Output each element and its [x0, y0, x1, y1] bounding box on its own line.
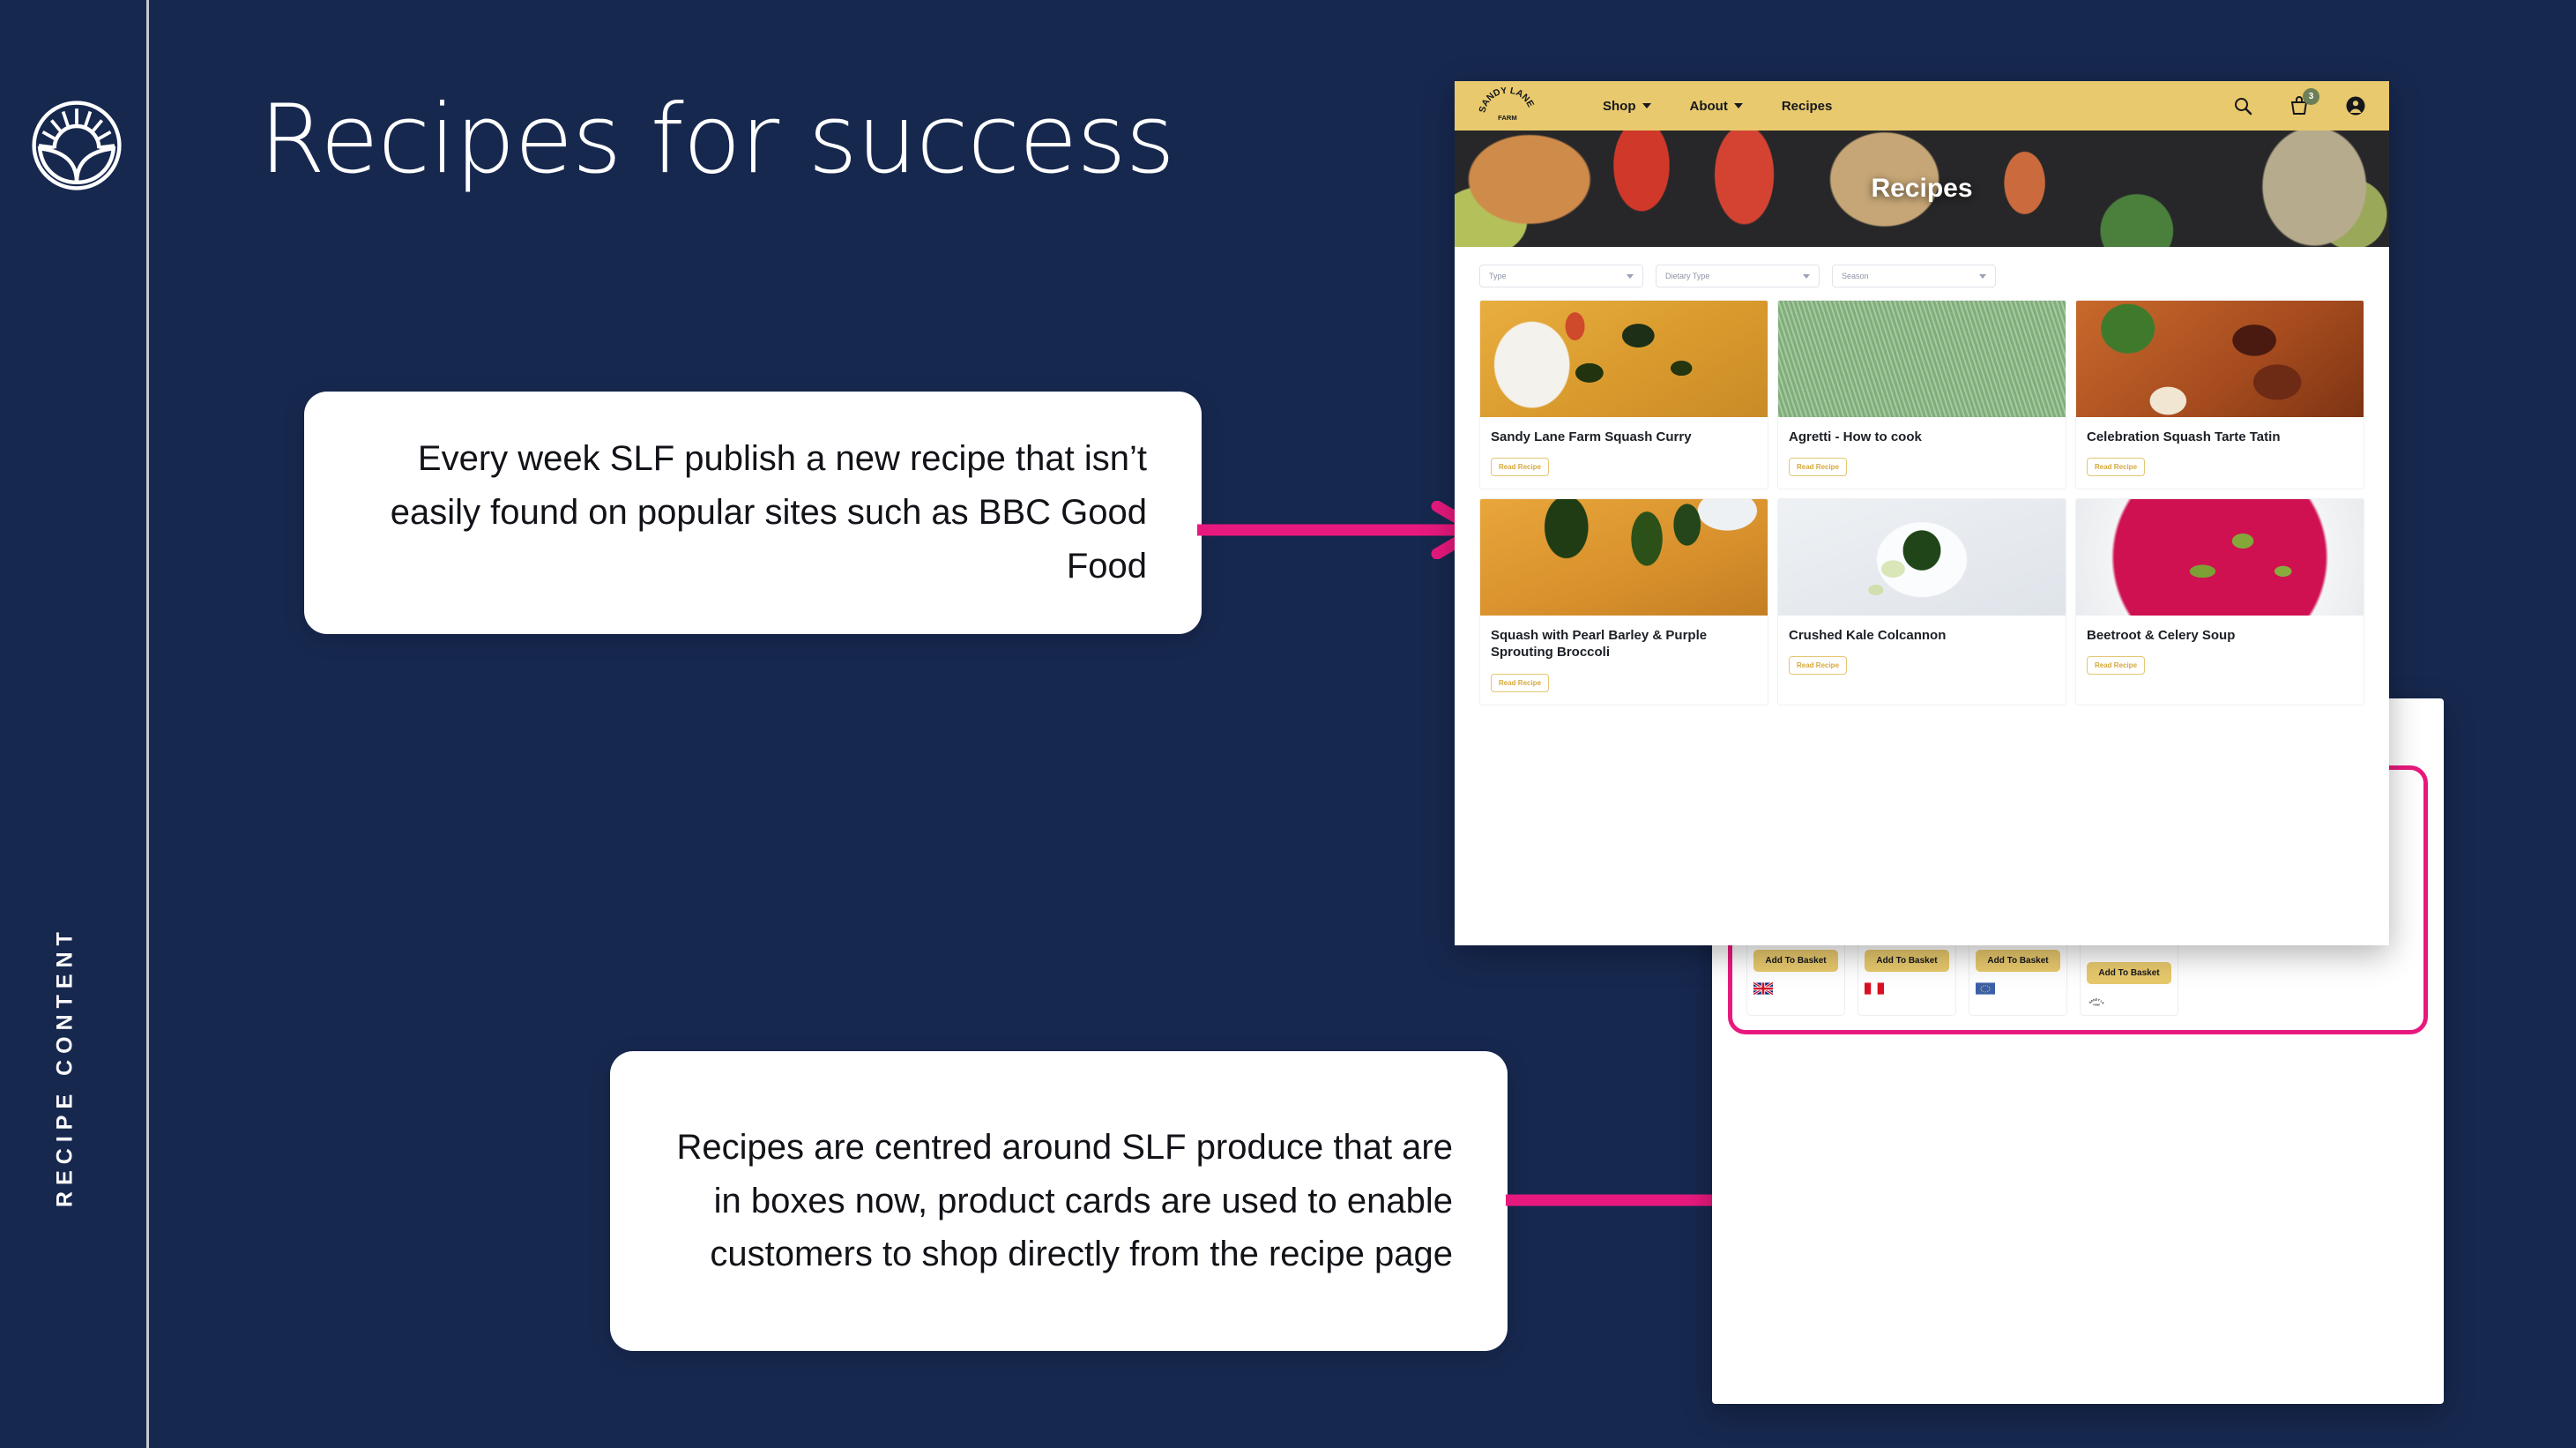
page-title: Recipes for success: [259, 93, 1174, 188]
eu-flag-icon: [1976, 982, 1995, 995]
section-label: RECIPE CONTENT: [53, 926, 78, 1208]
recipe-title: Squash with Pearl Barley & Purple Sprout…: [1491, 627, 1757, 661]
read-recipe-button[interactable]: Read Recipe: [1789, 656, 1847, 675]
origin-row: [1976, 982, 2060, 995]
nav-item-about[interactable]: About: [1690, 99, 1743, 114]
recipe-image: [2076, 499, 2364, 616]
sunrise-leaf-logo-icon: [28, 97, 125, 194]
recipe-card[interactable]: Sandy Lane Farm Squash Curry Read Recipe: [1479, 300, 1768, 489]
nav-label: Recipes: [1782, 99, 1833, 114]
origin-row: [1753, 982, 1838, 995]
cart-count-badge: 3: [2303, 88, 2319, 105]
filter-season-select[interactable]: Season: [1832, 265, 1996, 287]
chevron-down-icon: [1642, 103, 1651, 108]
callout-box-product-cards: Recipes are centred around SLF produce t…: [610, 1051, 1508, 1351]
add-to-basket-button[interactable]: Add To Basket: [1753, 950, 1838, 972]
nav-actions: 3: [2232, 95, 2366, 116]
callout-text: Every week SLF publish a new recipe that…: [359, 432, 1147, 593]
read-recipe-button[interactable]: Read Recipe: [2087, 656, 2145, 675]
sandy-lane-farm-logo-icon[interactable]: SANDY LANE FARM: [1478, 87, 1537, 124]
recipe-title: Agretti - How to cook: [1789, 429, 2055, 445]
filter-label: Dietary Type: [1665, 272, 1803, 280]
nav-item-recipes[interactable]: Recipes: [1782, 99, 1833, 114]
recipe-card[interactable]: Agretti - How to cook Read Recipe: [1777, 300, 2066, 489]
read-recipe-button[interactable]: Read Recipe: [1491, 674, 1549, 692]
nav-item-shop[interactable]: Shop: [1603, 99, 1651, 114]
recipe-card[interactable]: Crushed Kale Colcannon Read Recipe: [1777, 498, 2066, 705]
recipe-image: [1778, 499, 2066, 616]
rail-divider: [146, 0, 149, 1448]
read-recipe-button[interactable]: Read Recipe: [1491, 458, 1549, 476]
hero-banner: Recipes: [1455, 131, 2389, 247]
peru-flag-icon: [1865, 982, 1884, 995]
add-to-basket-button[interactable]: Add To Basket: [1976, 950, 2060, 972]
recipe-title: Crushed Kale Colcannon: [1789, 627, 2055, 644]
recipe-card-body: Agretti - How to cook Read Recipe: [1778, 417, 2066, 489]
recipe-card-body: Squash with Pearl Barley & Purple Sprout…: [1480, 616, 1768, 704]
chevron-down-icon: [1979, 274, 1986, 279]
pink-arrow-right-icon: [1197, 501, 1488, 559]
recipe-card-body: Beetroot & Celery Soup Read Recipe: [2076, 616, 2364, 687]
filter-dietary-type-select[interactable]: Dietary Type: [1656, 265, 1820, 287]
recipe-title: Sandy Lane Farm Squash Curry: [1491, 429, 1757, 445]
callout-box-recipes: Every week SLF publish a new recipe that…: [304, 392, 1202, 634]
filter-bar: Type Dietary Type Season: [1455, 247, 2389, 300]
recipe-title: Celebration Squash Tarte Tatin: [2087, 429, 2353, 445]
site-navbar: SANDY LANE FARM Shop About Recipes: [1455, 81, 2389, 131]
read-recipe-button[interactable]: Read Recipe: [2087, 458, 2145, 476]
callout-text: Recipes are centred around SLF produce t…: [665, 1121, 1453, 1281]
search-icon[interactable]: [2232, 95, 2253, 116]
recipe-image: [1480, 301, 1768, 417]
recipe-title: Beetroot & Celery Soup: [2087, 627, 2353, 644]
sandy-lane-farm-logo-icon: SANDY LANE FARM: [2087, 995, 2106, 1007]
chevron-down-icon: [1803, 274, 1810, 279]
read-recipe-button[interactable]: Read Recipe: [1789, 458, 1847, 476]
recipes-page-screenshot: SANDY LANE FARM Shop About Recipes: [1455, 81, 2389, 945]
svg-text:SANDY LANE: SANDY LANE: [1478, 87, 1536, 114]
recipe-image: [1480, 499, 1768, 616]
svg-text:FARM: FARM: [1498, 114, 1517, 122]
recipe-card-body: Crushed Kale Colcannon Read Recipe: [1778, 616, 2066, 687]
recipe-card[interactable]: Celebration Squash Tarte Tatin Read Reci…: [2075, 300, 2364, 489]
nav-label: About: [1690, 99, 1728, 114]
recipe-grid: Sandy Lane Farm Squash Curry Read Recipe…: [1455, 300, 2389, 705]
chevron-down-icon: [1627, 274, 1634, 279]
svg-text:FARM: FARM: [2093, 1003, 2099, 1006]
add-to-basket-button[interactable]: Add To Basket: [2087, 962, 2171, 984]
filter-label: Season: [1842, 272, 1979, 280]
filter-label: Type: [1489, 272, 1627, 280]
nav-links: Shop About Recipes: [1603, 99, 1832, 114]
recipe-image: [1778, 301, 2066, 417]
filter-type-select[interactable]: Type: [1479, 265, 1643, 287]
nav-label: Shop: [1603, 99, 1636, 114]
hero-title: Recipes: [1455, 174, 2389, 204]
recipe-card-body: Celebration Squash Tarte Tatin Read Reci…: [2076, 417, 2364, 489]
account-icon[interactable]: [2345, 95, 2366, 116]
recipe-card[interactable]: Beetroot & Celery Soup Read Recipe: [2075, 498, 2364, 705]
add-to-basket-button[interactable]: Add To Basket: [1865, 950, 1949, 972]
origin-row: [1865, 982, 1949, 995]
slide: RECIPE CONTENT Recipes for success Every…: [0, 0, 2576, 1448]
basket-icon[interactable]: 3: [2289, 95, 2310, 116]
uk-flag-icon: [1753, 982, 1773, 995]
origin-row: SANDY LANE FARM: [2087, 994, 2171, 1007]
recipe-image: [2076, 301, 2364, 417]
recipe-card-body: Sandy Lane Farm Squash Curry Read Recipe: [1480, 417, 1768, 489]
chevron-down-icon: [1734, 103, 1743, 108]
recipe-card[interactable]: Squash with Pearl Barley & Purple Sprout…: [1479, 498, 1768, 705]
